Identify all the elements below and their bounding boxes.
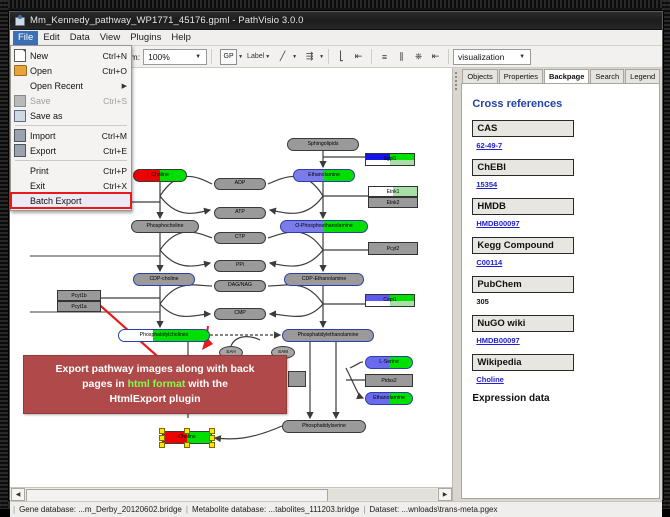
chevron-down-icon: ▼ [319,54,324,60]
xref-header-hmdb: HMDB [472,198,574,215]
chevron-down-icon: ▼ [265,54,270,60]
menu-item-open-recent-label: Open Recent [30,81,122,91]
menu-item-open-label: Open [30,66,102,76]
gene-label-sgpl1: Sgpl1 [366,154,414,166]
node-phosphatidylcholines[interactable]: Phosphatidylcholines [118,329,210,342]
menu-edit[interactable]: Edit [38,31,64,45]
node-phosphatidylserine[interactable]: Phosphatidylserine [282,420,366,433]
toolbar-separator-2 [328,49,329,64]
xref-header-cas: CAS [472,120,574,137]
menu-item-open-shortcut: Ctrl+O [102,66,127,76]
menu-item-batch-export-label: Batch Export [30,196,127,206]
pathway-junction-block[interactable] [288,371,306,387]
xref-link-wikipedia[interactable]: Choline [476,375,659,384]
blank-icon [13,164,27,177]
panel-drag-grip[interactable] [454,70,458,100]
label-tool-text: Label [247,53,264,60]
chevron-right-icon: ▶ [122,82,127,90]
menu-data[interactable]: Data [65,31,95,45]
tab-backpage[interactable]: Backpage [544,69,589,84]
callout-line-2b: with the [185,378,228,390]
menu-item-import[interactable]: Import Ctrl+M [11,128,131,143]
blank-icon [13,194,27,207]
chevron-down-icon: ▼ [292,54,297,60]
save-icon [13,94,27,107]
pathvisio-window: Mm_Kennedy_pathway_WP1771_45176.gpml - P… [9,11,663,500]
status-gene-database: Gene database: ...m_Derby_20120602.bridg… [19,505,182,514]
side-panel: Objects Properties Backpage Search Legen… [453,68,662,501]
menu-item-import-shortcut: Ctrl+M [102,131,127,141]
menu-bar: File Edit Data View Plugins Help New Ctr… [10,30,662,46]
gene-label-etnk1: Etnk1 [369,187,417,196]
label-tool[interactable]: Label ▼ [247,53,270,60]
node-dag-nag[interactable]: DAG/NAG [214,280,266,292]
file-menu-dropdown: New Ctrl+N Open Ctrl+O Open Recent ▶ Sav… [10,45,132,211]
selection-handle-w[interactable] [159,435,165,441]
annotation-callout: Export pathway images along with back pa… [23,355,287,414]
node-ethanolamine-2[interactable]: Ethanolamine [365,392,413,405]
menu-item-import-label: Import [30,131,102,141]
scroll-left-icon[interactable]: ◀ [11,488,25,501]
menu-item-exit[interactable]: Exit Ctrl+X [11,178,131,193]
selection-handle-ne[interactable] [209,428,215,434]
chevron-down-icon: ▼ [238,54,243,60]
menu-item-save[interactable]: Save Ctrl+S [11,93,131,108]
gene-label-pcyt2: Pcyt2 [369,243,417,254]
node-phosphocholine[interactable]: Phosphocholine [131,220,199,233]
gene-box-pcyt2[interactable]: Pcyt2 [368,242,418,255]
menu-item-exit-shortcut: Ctrl+X [103,181,127,191]
menu-file[interactable]: File [13,31,38,45]
menu-item-open[interactable]: Open Ctrl+O [11,63,131,78]
gene-label-cept1: Cept1 [366,295,414,307]
selection-handle-nw[interactable] [159,428,165,434]
callout-highlight: html format [128,378,186,390]
geneproduct-icon: GP [220,49,237,65]
receptor-icon: ⇶ [301,49,318,65]
menu-divider-1 [15,125,127,126]
menu-item-export-label: Export [30,146,103,156]
selection-handle-sw[interactable] [159,442,165,448]
xref-header-wikipedia: Wikipedia [472,354,574,371]
export-icon [13,144,27,157]
selection-handle-n[interactable] [184,428,190,434]
gene-box-etnk2[interactable]: Etnk2 [368,197,418,208]
selection-handle-se[interactable] [209,442,215,448]
tab-legend[interactable]: Legend [625,69,660,83]
menu-item-new-label: New [30,51,103,61]
tab-objects[interactable]: Objects [462,69,497,83]
screenshot-root: Mm_Kennedy_pathway_WP1771_45176.gpml - P… [0,0,670,509]
node-phosphatidylethanolamine[interactable]: Phosphatidylethanolamine [282,329,374,342]
chevron-down-icon: ▼ [192,54,204,60]
chevron-down-icon: ▼ [516,54,528,60]
open-folder-icon [13,64,27,77]
save-as-icon [13,109,27,122]
node-atp[interactable]: ATP [214,207,266,219]
node-adp[interactable]: ADP [214,178,266,190]
align-left-icon[interactable]: ⇤ [350,49,367,65]
node-sphingolipids[interactable]: Sphingolipids [287,138,359,151]
toolbar-separator-3 [371,49,372,64]
gene-label-pcyt1a: Pcyt1a [58,302,100,311]
menu-item-save-shortcut: Ctrl+S [103,96,127,106]
expression-data-title: Expression data [472,393,659,404]
frame-border-left [0,0,8,509]
node-l-serine[interactable]: L-Serine [365,356,413,369]
xref-link-chebi[interactable]: 15354 [476,180,659,189]
blank-icon [13,179,27,192]
title-bar: Mm_Kennedy_pathway_WP1771_45176.gpml - P… [10,12,662,30]
new-file-icon [13,49,27,62]
xref-header-kegg-compound: Kegg Compound [472,237,574,254]
selection-handle-s[interactable] [184,442,190,448]
node-cdp-choline[interactable]: CDP-choline [133,273,195,286]
align-rows-icon[interactable]: ≡ [376,49,393,65]
node-ctp[interactable]: CTP [214,232,266,244]
visualization-value: visualization [456,52,516,62]
toolbar-separator-4 [448,49,449,64]
anchor-icon[interactable]: ⎣ [333,49,350,65]
gene-box-cept1[interactable]: Cept1 [365,294,415,307]
xref-link-nugo-wiki[interactable]: HMDB00097 [476,336,659,345]
xref-header-pubchem: PubChem [472,276,574,293]
status-dataset: Dataset: ...wnloads\trans-meta.pgex [369,505,497,514]
blank-icon [13,79,27,92]
gene-label-pcyt1b: Pcyt1b [58,291,100,300]
node-ethanolamine-1[interactable]: Ethanolamine [293,169,355,182]
xref-value-pubchem: 305 [476,297,659,306]
zoom-combobox[interactable]: 100% ▼ [143,49,207,65]
frame-border-top [0,0,670,8]
cross-references-title: Cross references [472,98,659,110]
node-cmp[interactable]: CMP [214,308,266,320]
menu-item-save-as[interactable]: Save as [11,108,131,123]
gene-box-pcyt1a[interactable]: Pcyt1a [57,301,101,312]
gene-box-pcyt1b[interactable]: Pcyt1b [57,290,101,301]
node-cdp-ethanolamine[interactable]: CDP-Ethanolamine [284,273,364,286]
hscroll-thumb[interactable] [26,489,328,501]
align-columns-icon[interactable]: ∥ [393,49,410,65]
xref-header-nugo-wiki: NuGO wiki [472,315,574,332]
tab-search[interactable]: Search [590,69,624,83]
align-bottom-icon[interactable]: ⎈ [410,49,427,65]
status-divider-2: | [363,505,365,514]
menu-view[interactable]: View [95,31,125,45]
line-icon: ╱ [274,49,291,65]
toolbar-separator-1 [211,49,212,64]
tab-properties[interactable]: Properties [499,69,543,83]
menu-plugins[interactable]: Plugins [125,31,166,45]
menu-item-print[interactable]: Print Ctrl+P [11,163,131,178]
node-choline-top[interactable]: Choline [133,169,187,182]
menu-item-exit-label: Exit [30,181,103,191]
callout-line-3: HtmlExport plugin [32,392,278,407]
callout-line-1: Export pathway images along with back [32,362,278,377]
backpage-content: Cross references CAS 62-49-7 ChEBI 15354… [461,83,660,499]
menu-help[interactable]: Help [166,31,196,45]
menu-item-export[interactable]: Export Ctrl+E [11,143,131,158]
status-divider-0: | [13,505,15,514]
menu-item-open-recent[interactable]: Open Recent ▶ [11,78,131,93]
import-icon [13,129,27,142]
xref-header-chebi: ChEBI [472,159,574,176]
xref-link-hmdb[interactable]: HMDB00097 [476,219,659,228]
selection-handle-e[interactable] [209,435,215,441]
frame-border-right [662,0,670,509]
menu-item-new[interactable]: New Ctrl+N [11,48,131,63]
callout-line-2: pages in html format with the [32,377,278,392]
menu-item-print-label: Print [30,166,103,176]
gene-box-sgpl1[interactable]: Sgpl1 [365,153,415,166]
visualization-combobox[interactable]: visualization ▼ [453,49,531,65]
menu-item-save-label: Save [30,96,103,106]
status-divider-1: | [186,505,188,514]
menu-item-new-shortcut: Ctrl+N [103,51,127,61]
line-tool[interactable]: ╱ ▼ [274,49,297,65]
gene-label-ptdss2: Ptdss2 [366,375,412,386]
status-metabolite-database: Metabolite database: ...tabolites_111203… [192,505,359,514]
window-title: Mm_Kennedy_pathway_WP1771_45176.gpml - P… [30,15,304,26]
gene-label-etnk2: Etnk2 [369,198,417,207]
callout-line-2a: pages in [82,378,128,390]
menu-item-export-shortcut: Ctrl+E [103,146,127,156]
stack-left-icon[interactable]: ⇤ [427,49,444,65]
xref-link-kegg-compound[interactable]: C00114 [476,258,659,267]
status-bar: | Gene database: ...m_Derby_20120602.bri… [10,501,662,517]
gene-box-etnk1[interactable]: Etnk1 [368,186,418,197]
panel-tabs: Objects Properties Backpage Search Legen… [453,68,662,83]
menu-item-batch-export[interactable]: Batch Export [11,193,131,208]
xref-link-cas[interactable]: 62-49-7 [476,141,659,150]
shape-tool[interactable]: ⇶ ▼ [301,49,324,65]
menu-item-print-shortcut: Ctrl+P [103,166,127,176]
pathvisio-app-icon [14,15,25,26]
scroll-right-icon[interactable]: ▶ [438,488,452,501]
menu-divider-2 [15,160,127,161]
zoom-value: 100% [146,52,192,62]
node-o-phosphoethanolamine[interactable]: O-Phosphoethanolamine [280,220,368,233]
node-ppi[interactable]: PPi [214,260,266,272]
menu-item-save-as-label: Save as [30,111,127,121]
hscroll-track[interactable] [26,489,437,500]
gene-box-ptdss2[interactable]: Ptdss2 [365,374,413,387]
canvas-hscrollbar[interactable]: ◀ ▶ [10,487,453,501]
datanode-tool[interactable]: GP ▼ [220,49,243,65]
